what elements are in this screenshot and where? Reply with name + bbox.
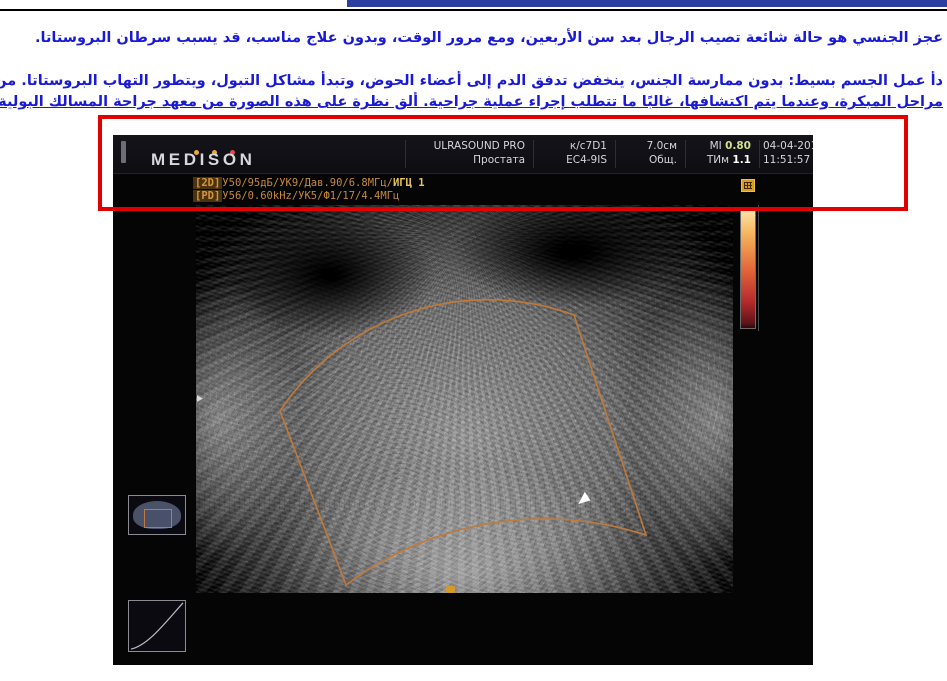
mode-tag-pd: [PD] <box>193 190 222 202</box>
probe-name: EC4-9IS <box>539 153 607 167</box>
logo-bar-icon <box>121 141 126 163</box>
grid-mode-icon <box>741 179 755 192</box>
param-line-pd: [PD]У56/0.60kHz/УК5/Ф1/17/4.4МГц <box>193 190 753 203</box>
param-line-2d: [2D]У50/95дБ/УК9/Дав.90/6.8МГц/ИГЦ 1 <box>193 177 753 190</box>
exam-type: Простата <box>413 153 525 167</box>
mi-label: MI <box>710 140 722 152</box>
article-paragraph-2-line-2: مراحل المبكرة، وعندما يتم اكتشافها، غالب… <box>0 92 947 113</box>
brand-name: MEDISON <box>151 150 256 170</box>
gamma-curve-thumbnail[interactable] <box>128 600 186 652</box>
device-model: ULRASOUND PRO <box>413 139 525 153</box>
header-divider-5 <box>759 140 760 168</box>
article-paragraph-1-line-1: عجز الجنسي هو حالة شائعة تصيب الرجال بعد… <box>0 28 947 49</box>
ti-row: ТИм 1.1 <box>689 153 751 167</box>
blue-header-band <box>347 0 947 7</box>
body-roi-box-icon <box>144 509 172 528</box>
depth-info: 7.0см Общ. <box>619 139 677 169</box>
gamma-curve-icon <box>129 601 185 651</box>
article-paragraph-2-line-1: دأ عمل الجسم بسيط: بدون ممارسة الجنس، ين… <box>0 71 947 92</box>
header-divider-1 <box>405 140 406 168</box>
mi-value: 0.80 <box>725 140 751 152</box>
ultrasound-image-viewport <box>196 205 733 593</box>
header-separator <box>113 173 813 174</box>
ti-value: 1.1 <box>732 154 751 166</box>
device-info: ULRASOUND PRO Простата <box>413 139 525 169</box>
mode-tag-2d: [2D] <box>193 177 222 189</box>
ultrasound-screenshot: MEDISON ULRASOUND PRO Простата к/с7D1 EC… <box>113 135 813 665</box>
exam-time: 11:51:57 <box>763 153 809 167</box>
header-divider-3 <box>615 140 616 168</box>
exam-date: 04-04-2012 <box>763 139 809 153</box>
mi-row: MI 0.80 <box>689 139 751 153</box>
horizontal-rule <box>0 9 947 11</box>
header-divider-4 <box>685 140 686 168</box>
gain-mode: Общ. <box>619 153 677 167</box>
param-pd-values: У56/0.60kHz/УК5/Ф1/17/4.4МГц <box>222 190 399 202</box>
colorbar-scale-line <box>758 205 769 331</box>
logo-dots-icon <box>194 142 274 149</box>
preset-name: к/с7D1 <box>539 139 607 153</box>
power-doppler-colorbar <box>740 207 756 329</box>
acquisition-parameters: [2D]У50/95дБ/УК9/Дав.90/6.8МГц/ИГЦ 1 [PD… <box>193 177 753 203</box>
header-divider-2 <box>533 140 534 168</box>
depth-marker-dot <box>446 586 455 593</box>
body-position-thumbnail[interactable] <box>128 495 186 535</box>
param-2d-highlight: ИГЦ 1 <box>393 177 425 189</box>
datetime-info: 04-04-2012 11:51:57 <box>763 139 809 169</box>
doppler-roi-outline <box>274 293 659 593</box>
medison-logo: MEDISON <box>121 137 351 171</box>
probe-info: к/с7D1 EC4-9IS <box>539 139 607 169</box>
ti-label: ТИм <box>707 154 729 166</box>
depth-value: 7.0см <box>619 139 677 153</box>
param-2d-values: У50/95дБ/УК9/Дав.90/6.8МГц/ <box>222 177 393 189</box>
acoustic-index-info: MI 0.80 ТИм 1.1 <box>689 139 751 169</box>
article-text: عجز الجنسي هو حالة شائعة تصيب الرجال بعد… <box>0 14 947 113</box>
